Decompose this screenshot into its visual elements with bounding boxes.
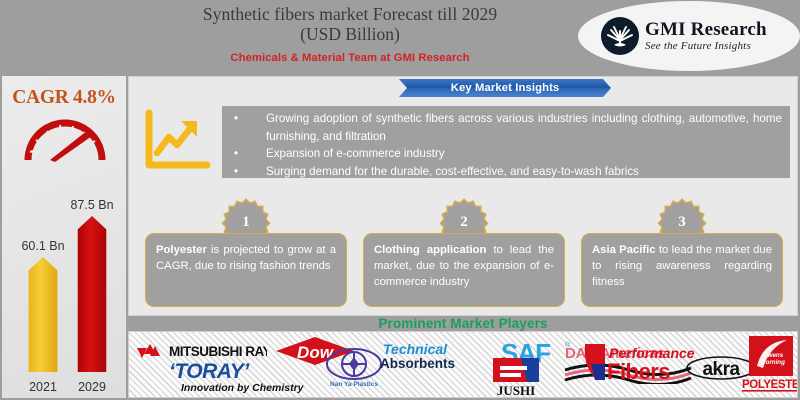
cagr-and-forecast-panel: CAGR 4.8% 60.1 Bn 87.5 Bn	[2, 76, 126, 398]
palm-fan-logo-icon	[600, 16, 640, 56]
owens-corning-logo: Owens Corning	[749, 336, 793, 381]
technical-absorbents-logo: Technical Absorbents	[379, 340, 499, 379]
corning-word: Corning	[761, 359, 785, 366]
card-lead-term: Asia Pacific	[592, 244, 656, 256]
team-credit-line: Chemicals & Material Team at GMI Researc…	[120, 52, 580, 64]
list-item: • Surging demand for the durable, cost-e…	[228, 163, 782, 181]
insight-card-2: 2 Clothing application to lead the marke…	[363, 197, 565, 309]
owens-word: Owens	[763, 352, 784, 359]
nan-ya-plastics-logo: Nan Ya Plastics	[325, 346, 383, 397]
list-item: • Growing adoption of synthetic fibers a…	[228, 110, 782, 145]
toray-tagline: Innovation by Chemistry	[181, 382, 305, 394]
polyester-text: POLYESTER	[742, 379, 798, 391]
absorbents-word: Absorbents	[380, 356, 455, 371]
card-lead-term: Polyester	[156, 244, 207, 256]
bar-value-label-2029: 87.5 Bn	[70, 198, 113, 212]
logo-tagline: See the Future Insights	[645, 41, 767, 52]
market-players-logo-strip: MITSUBISHI RAYON Dow ‘TORAY’ Innovation …	[128, 331, 798, 398]
bar-value-label-2021: 60.1 Bn	[21, 239, 64, 253]
bullet-text: Expansion of e-commerce industry	[266, 145, 782, 163]
list-item: • Expansion of e-commerce industry	[228, 145, 782, 163]
bar-2029	[76, 216, 108, 372]
bullet-text: Surging demand for the durable, cost-eff…	[266, 163, 782, 181]
insight-card-1: 1 Polyester is projected to grow at a CA…	[145, 197, 347, 309]
nan-ya-plastics-wordmark: Nan Ya Plastics	[330, 381, 378, 388]
cagr-label: CAGR 4.8%	[2, 87, 126, 109]
bar-year-label-2021: 2021	[28, 380, 58, 394]
card-text: Asia Pacific to lead the market due to r…	[581, 233, 783, 307]
akra-wordmark: akra	[702, 359, 740, 380]
jushi-logo: JUSHI	[487, 358, 551, 398]
insights-panel: Key Market Insights • Growing adoption o…	[128, 76, 798, 316]
card-lead-term: Clothing application	[374, 244, 486, 256]
forecast-bar-chart: 60.1 Bn 87.5 Bn 2021 2029	[2, 172, 126, 398]
toray-logo: ‘TORAY’ Innovation by Chemistry	[165, 358, 345, 398]
fibers-word: Fibers	[607, 359, 670, 384]
insight-card-3: 3 Asia Pacific to lead the market due to…	[581, 197, 783, 309]
line-chart-up-arrow-icon	[143, 109, 211, 171]
header-bar: Synthetic fibers market Forecast till 20…	[0, 0, 800, 75]
polyester-wordmark: POLYESTER	[741, 376, 798, 398]
bullet-glyph: •	[228, 110, 266, 145]
page-title: Synthetic fibers market Forecast till 20…	[120, 4, 580, 24]
prominent-market-players-title: Prominent Market Players	[128, 316, 798, 331]
bullet-text: Growing adoption of synthetic fibers acr…	[266, 110, 782, 145]
bullet-glyph: •	[228, 163, 266, 181]
toray-wordmark: ‘TORAY’	[169, 360, 250, 383]
bullet-glyph: •	[228, 145, 266, 163]
card-text: Clothing application to lead the market,…	[363, 233, 565, 307]
technical-word: Technical	[383, 341, 448, 357]
speedometer-gauge-icon	[20, 112, 110, 164]
insights-bullet-list: • Growing adoption of synthetic fibers a…	[222, 106, 790, 178]
title-block: Synthetic fibers market Forecast till 20…	[120, 4, 580, 44]
page-subtitle-unit: (USD Billion)	[120, 24, 580, 44]
jushi-wordmark: JUSHI	[497, 383, 535, 398]
logo-text-block: GMI Research See the Future Insights	[645, 20, 767, 52]
mitsubishi-rayon-wordmark: MITSUBISHI RAYON	[169, 344, 267, 359]
key-market-insights-banner: Key Market Insights	[399, 79, 611, 97]
bar-year-label-2029: 2029	[76, 380, 108, 394]
logo-brand-name: GMI Research	[645, 20, 767, 39]
card-text: Polyester is projected to grow at a CAGR…	[145, 233, 347, 307]
brand-logo[interactable]: GMI Research See the Future Insights	[600, 10, 800, 62]
bar-2021	[28, 257, 58, 372]
